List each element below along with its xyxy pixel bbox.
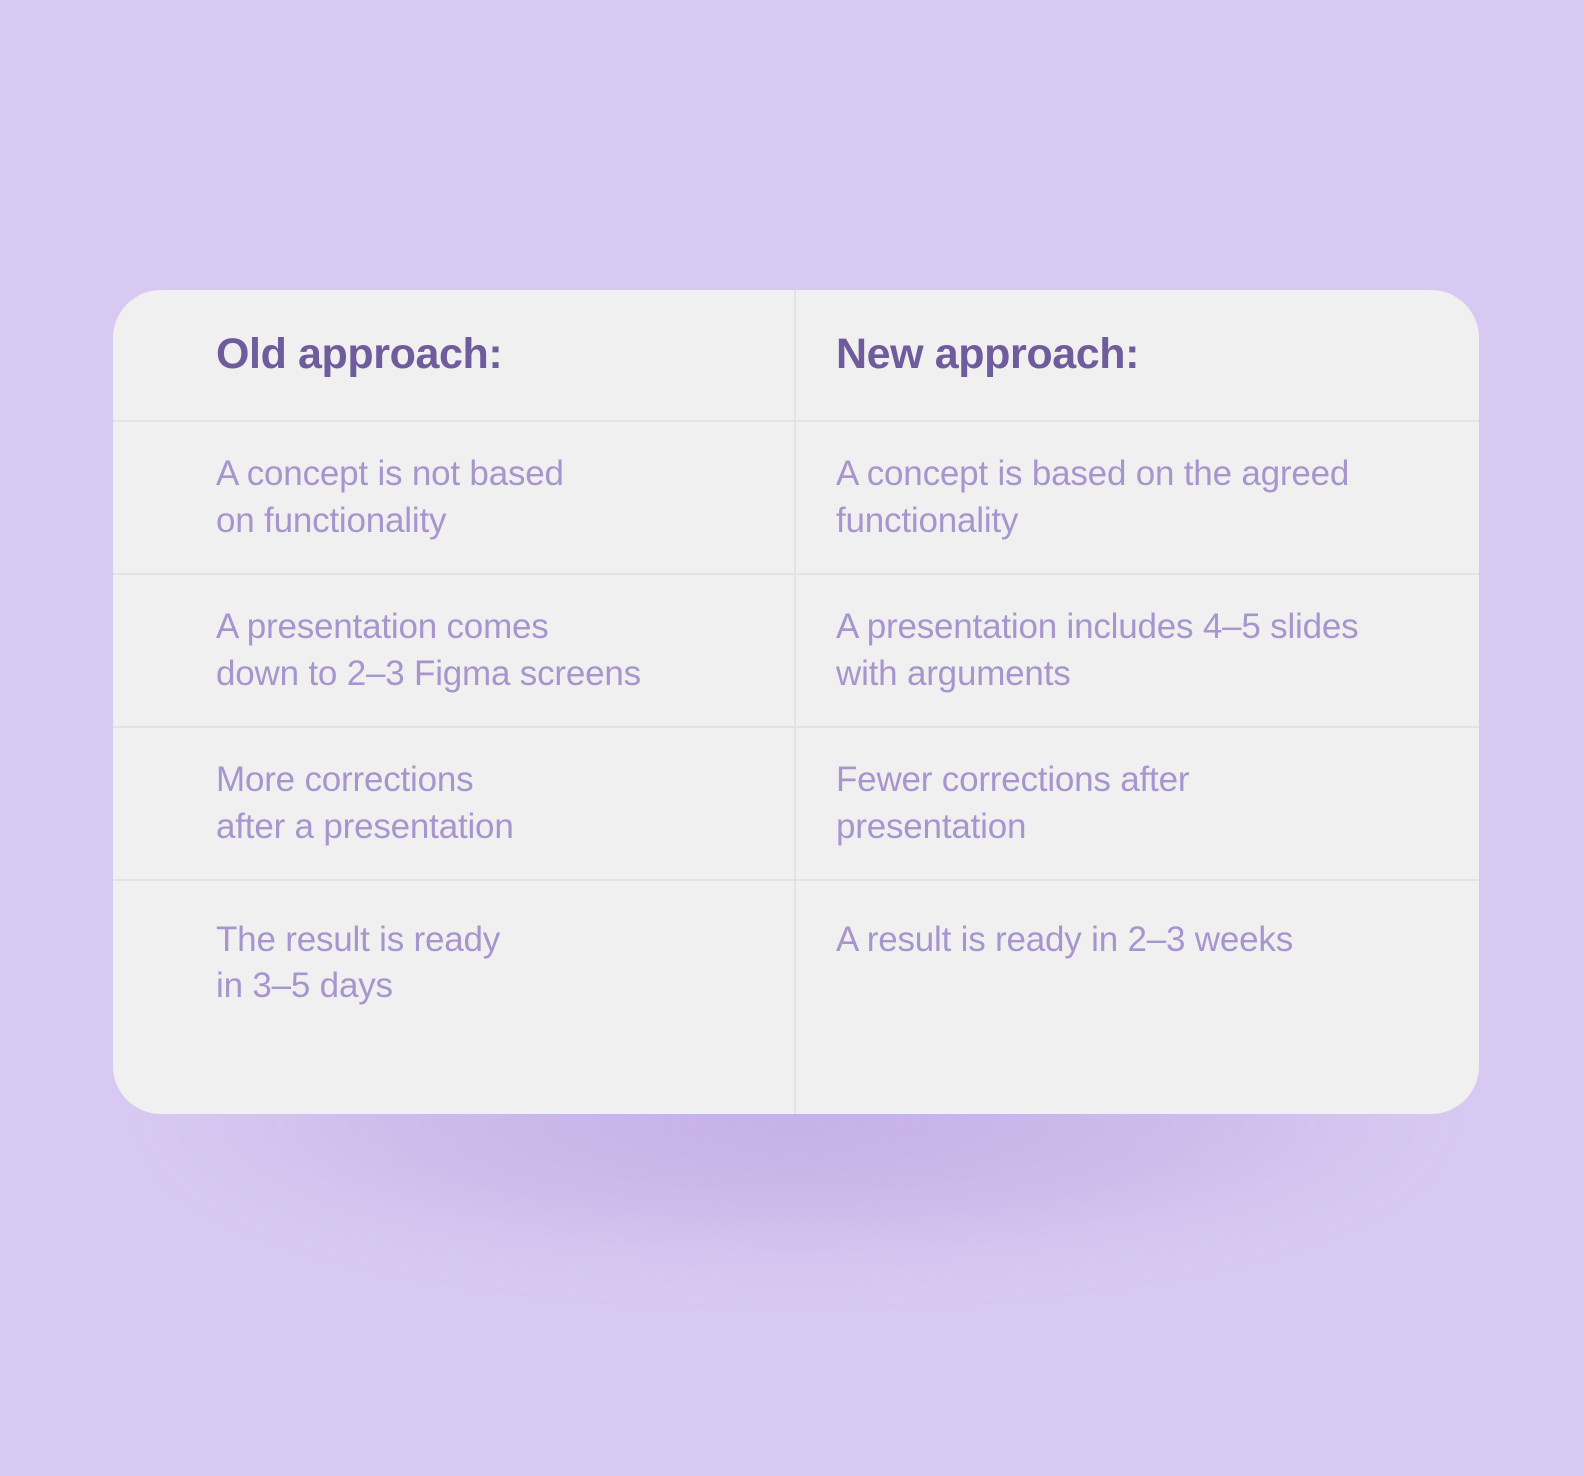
cell-text-new-3: Fewer corrections after presentation bbox=[836, 757, 1189, 849]
cell-text-new-2: A presentation includes 4–5 slides with … bbox=[836, 604, 1358, 696]
table-row-old-3: More corrections after a presentation bbox=[113, 728, 794, 881]
cell-text-old-2: A presentation comes down to 2–3 Figma s… bbox=[216, 604, 641, 696]
cell-text-new-1: A concept is based on the agreed functio… bbox=[836, 451, 1349, 543]
column-header-old-approach: Old approach: bbox=[216, 331, 502, 378]
table-row-old-2: A presentation comes down to 2–3 Figma s… bbox=[113, 575, 794, 728]
column-header-cell-old: Old approach: bbox=[113, 290, 794, 422]
column-header-new-approach: New approach: bbox=[836, 331, 1139, 378]
cell-text-old-3: More corrections after a presentation bbox=[216, 757, 514, 849]
column-new-approach: New approach: A concept is based on the … bbox=[796, 290, 1479, 1114]
column-header-cell-new: New approach: bbox=[796, 290, 1479, 422]
cell-text-new-4: A result is ready in 2–3 weeks bbox=[836, 917, 1293, 963]
table-row-new-4: A result is ready in 2–3 weeks bbox=[796, 881, 1479, 1111]
table-row-old-1: A concept is not based on functionality bbox=[113, 422, 794, 575]
comparison-table-card: Old approach: A concept is not based on … bbox=[113, 290, 1479, 1114]
table-row-new-1: A concept is based on the agreed functio… bbox=[796, 422, 1479, 575]
cell-text-old-4: The result is ready in 3–5 days bbox=[216, 917, 500, 1009]
table-row-new-3: Fewer corrections after presentation bbox=[796, 728, 1479, 881]
cell-text-old-1: A concept is not based on functionality bbox=[216, 451, 564, 543]
table-row-old-4: The result is ready in 3–5 days bbox=[113, 881, 794, 1111]
table-row-new-2: A presentation includes 4–5 slides with … bbox=[796, 575, 1479, 728]
column-old-approach: Old approach: A concept is not based on … bbox=[113, 290, 796, 1114]
